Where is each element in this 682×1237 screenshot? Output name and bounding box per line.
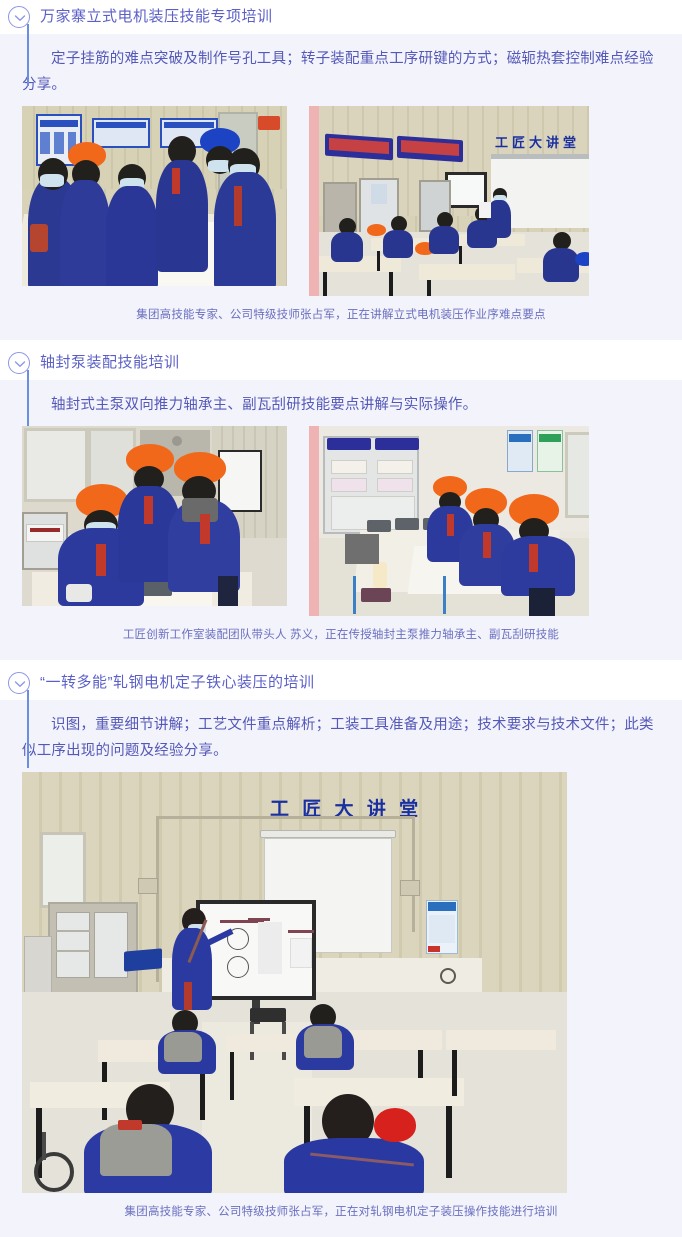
section-3-caption: 集团高技能专家、公司特级技师张占军，正在对轧钢电机定子装压操作技能进行培训 [0,1193,682,1233]
article-page: 万家寨立式电机装压技能专项培训 定子挂筋的难点突破及制作号孔工具；转子装配重点工… [0,0,682,1151]
section-2-image-row [0,426,682,616]
section-1-title: 万家寨立式电机装压技能专项培训 [40,6,273,28]
section-3-image-row: 工 匠 大 讲 堂 [0,772,682,1193]
section-3-title: “一转多能”轧钢电机定子铁心装压的培训 [40,672,315,694]
section-3: “一转多能”轧钢电机定子铁心装压的培训 识图，重要细节讲解；工艺文件重点解析；工… [0,666,682,1237]
photo-workers-reviewing-drawings [22,106,287,286]
section-1-header[interactable]: 万家寨立式电机装压技能专项培训 [0,0,682,34]
photo-classroom-training-hall: 工匠大讲堂 [309,106,589,296]
photo-scraping-demonstration [22,426,287,606]
photo-lecture-hall-whiteboard: 工 匠 大 讲 堂 [22,772,567,1193]
section-2-body: 轴封式主泵双向推力轴承主、副瓦刮研技能要点讲解与实际操作。 [0,380,682,660]
section-2-header[interactable]: 轴封泵装配技能培训 [0,346,682,380]
photo-workshop-bearing-table [309,426,589,616]
section-1: 万家寨立式电机装压技能专项培训 定子挂筋的难点突破及制作号孔工具；转子装配重点工… [0,0,682,340]
section-2-paragraph: 轴封式主泵双向推力轴承主、副瓦刮研技能要点讲解与实际操作。 [0,380,682,426]
section-1-paragraph: 定子挂筋的难点突破及制作号孔工具；转子装配重点工序研键的方式；磁轭热套控制难点经… [0,34,682,106]
section-3-body: 识图，重要细节讲解；工艺文件重点解析；工装工具准备及用途；技术要求与技术文件；此… [0,700,682,1237]
section-2: 轴封泵装配技能培训 轴封式主泵双向推力轴承主、副瓦刮研技能要点讲解与实际操作。 [0,346,682,660]
section-3-header[interactable]: “一转多能”轧钢电机定子铁心装压的培训 [0,666,682,700]
section-1-caption: 集团高技能专家、公司特级技师张占军，正在讲解立式电机装压作业序难点要点 [0,296,682,336]
section-2-title: 轴封泵装配技能培训 [40,352,180,374]
section-2-caption: 工匠创新工作室装配团队带头人 苏义，正在传授轴封主泵推力轴承主、副瓦刮研技能 [0,616,682,656]
section-1-image-row: 工匠大讲堂 [0,106,682,296]
section-1-body: 定子挂筋的难点突破及制作号孔工具；转子装配重点工序研键的方式；磁轭热套控制难点经… [0,34,682,340]
section-3-paragraph: 识图，重要细节讲解；工艺文件重点解析；工装工具准备及用途；技术要求与技术文件；此… [0,700,682,772]
